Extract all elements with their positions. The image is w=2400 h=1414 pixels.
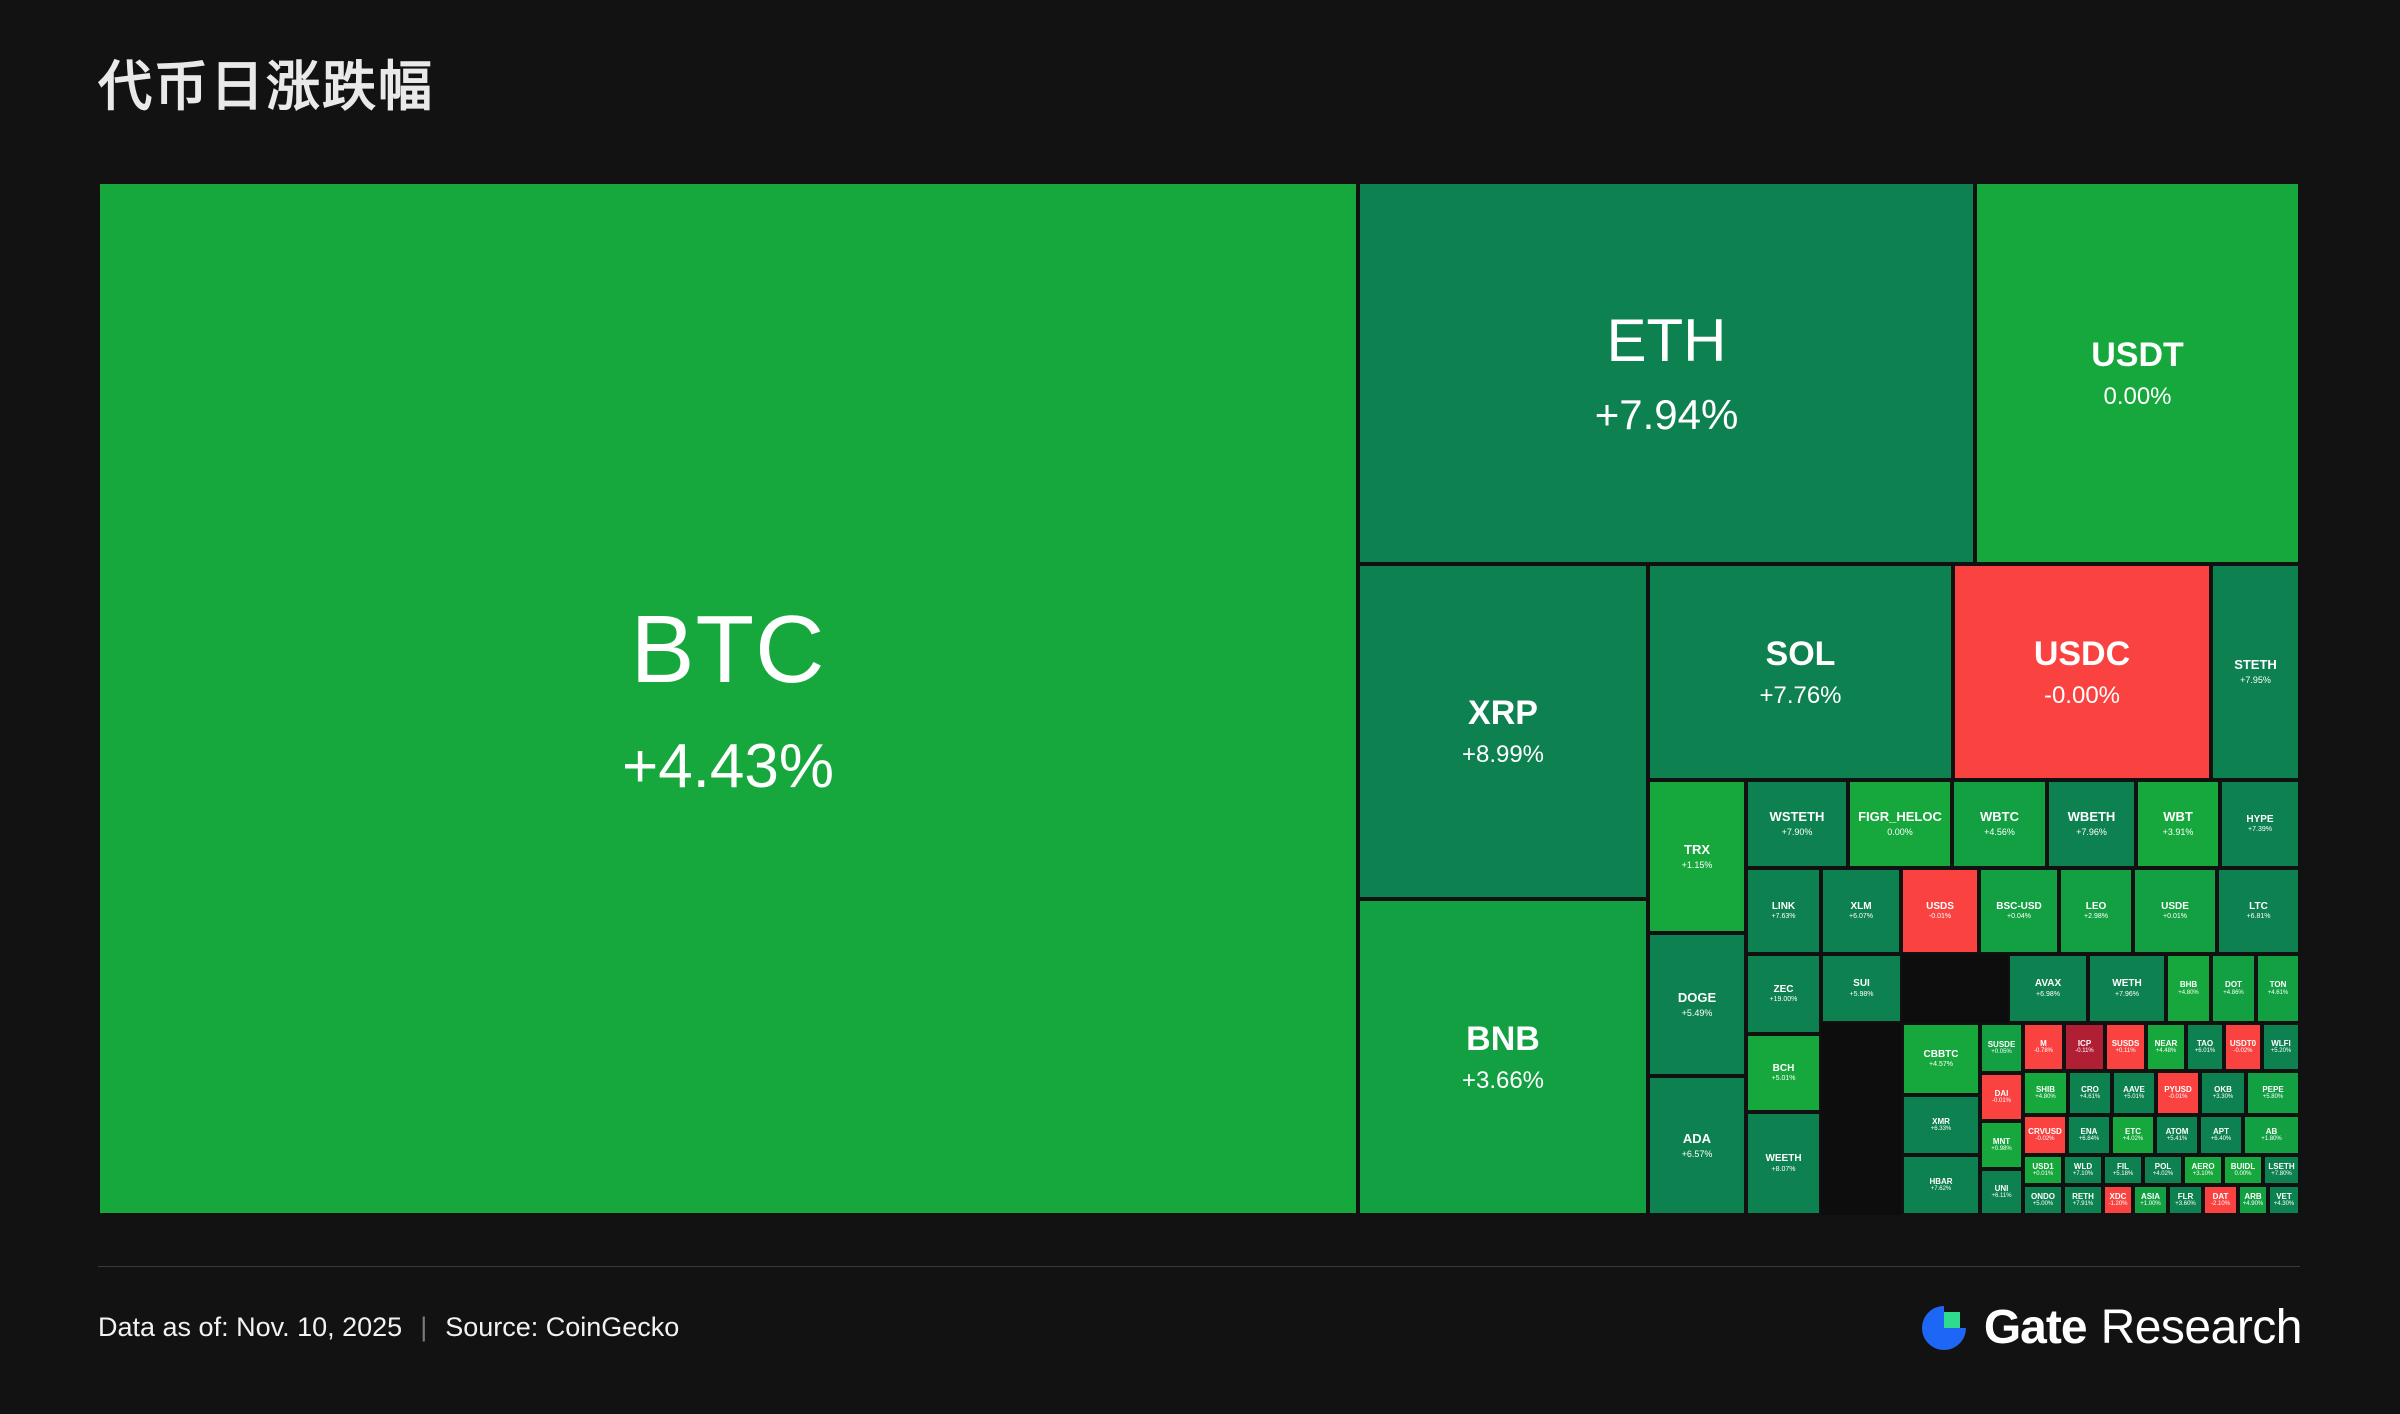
footer-meta: Data as of: Nov. 10, 2025 | Source: Coin… [98, 1312, 679, 1343]
tile-change-pct: 0.00% [2103, 383, 2171, 411]
tile-symbol: AAVE [2123, 1085, 2145, 1094]
tile-change-pct: +3.30% [2213, 1094, 2234, 1101]
tile-symbol: MNT [1993, 1137, 2010, 1146]
treemap-tile[interactable]: SOL+7.76% [1648, 564, 1953, 780]
tile-change-pct: -2.10% [2211, 1201, 2230, 1208]
tile-change-pct: -0.11% [2075, 1048, 2094, 1055]
treemap-tile[interactable]: DAI-0.01% [1980, 1073, 2023, 1121]
tile-symbol: ATOM [2166, 1127, 2189, 1136]
tile-symbol: BSC-USD [1996, 901, 2042, 913]
tile-change-pct: +4.61% [2080, 1094, 2101, 1101]
tile-change-pct: -0.78% [2034, 1048, 2053, 1055]
tile-change-pct: +4.48% [2156, 1048, 2177, 1055]
tile-change-pct: +4.80% [2035, 1094, 2056, 1101]
treemap-tile[interactable]: BHB+4.80% [2166, 954, 2211, 1023]
brand-lockup: Gate Research [1918, 1300, 2302, 1355]
tile-symbol: TRX [1684, 843, 1710, 858]
tile-change-pct: +4.43% [622, 731, 834, 802]
treemap-tile[interactable]: SUSDS+0.11% [2105, 1023, 2146, 1071]
tile-symbol: XDC [2110, 1192, 2127, 1201]
tile-change-pct: +6.81% [2247, 913, 2271, 921]
tile-symbol: LSETH [2268, 1162, 2294, 1171]
tile-symbol: ADA [1683, 1132, 1711, 1147]
tile-change-pct: +5.98% [1850, 991, 1874, 999]
treemap-tile[interactable]: XMR+6.33% [1902, 1095, 1980, 1155]
tile-change-pct: +6.07% [1849, 913, 1873, 921]
tile-change-pct: +5.41% [2167, 1136, 2188, 1143]
treemap-tile[interactable]: TRX+1.15% [1648, 780, 1746, 933]
treemap-tile[interactable]: ICP-0.11% [2064, 1023, 2105, 1071]
tile-symbol: SUI [1853, 978, 1870, 990]
tile-symbol: ZEC [1774, 984, 1794, 996]
tile-symbol: PEPE [2262, 1085, 2283, 1094]
treemap-tile[interactable]: BUIDL0.00% [2223, 1155, 2263, 1185]
treemap-tile[interactable]: ASIA+1.00% [2133, 1185, 2168, 1215]
tile-symbol: XRP [1468, 694, 1538, 733]
tile-change-pct: +0.04% [2007, 913, 2031, 921]
treemap-tile[interactable]: DAT-2.10% [2203, 1185, 2238, 1215]
treemap-tile[interactable]: AB+1.80% [2243, 1115, 2300, 1155]
treemap-tile[interactable]: SUSDE+0.05% [1980, 1023, 2023, 1073]
tile-change-pct: -0.01% [1929, 913, 1951, 921]
treemap-tile[interactable]: ENA+6.84% [2067, 1115, 2111, 1155]
treemap-tile[interactable]: M-0.78% [2023, 1023, 2064, 1071]
tile-symbol: TAO [2197, 1039, 2213, 1048]
tile-symbol: ETH [1607, 306, 1727, 375]
tile-change-pct: +5.49% [1682, 1008, 1713, 1018]
tile-symbol: RETH [2072, 1192, 2094, 1201]
tile-change-pct: +4.80% [2178, 990, 2199, 997]
tile-symbol: USD1 [2032, 1162, 2053, 1171]
treemap-tile[interactable]: ARB+4.90% [2238, 1185, 2268, 1215]
tile-change-pct: 0.00% [1887, 827, 1913, 837]
tile-change-pct: +4.61% [2268, 990, 2289, 997]
treemap-tile[interactable]: USDT0.00% [1975, 182, 2300, 564]
treemap-tile[interactable]: BNB+3.66% [1358, 899, 1648, 1215]
tile-symbol: XMR [1932, 1117, 1950, 1126]
treemap-tile[interactable]: CBBTC+4.57% [1902, 1023, 1980, 1095]
tile-symbol: CRVUSD [2028, 1127, 2062, 1136]
treemap-tile[interactable]: PEPE+5.80% [2246, 1071, 2300, 1115]
tile-symbol: DAI [1995, 1089, 2009, 1098]
treemap-tile[interactable]: ATOM+5.41% [2155, 1115, 2199, 1155]
brand-suffix: Research [2101, 1300, 2302, 1355]
treemap-tile[interactable]: BSC-USD+0.04% [1979, 868, 2059, 954]
tile-symbol: XLM [1850, 901, 1871, 913]
tile-symbol: AVAX [2035, 978, 2061, 990]
tile-symbol: WLFI [2271, 1039, 2291, 1048]
treemap-tile[interactable]: XRP+8.99% [1358, 564, 1648, 899]
treemap-tile[interactable]: RETH+7.91% [2063, 1185, 2103, 1215]
tile-symbol: LTC [2249, 901, 2268, 913]
tile-change-pct: +0.01% [2033, 1171, 2054, 1178]
tile-change-pct: +4.30% [2274, 1201, 2295, 1208]
treemap-tile[interactable]: LSETH+7.80% [2263, 1155, 2300, 1185]
tile-symbol: CRO [2081, 1085, 2099, 1094]
treemap-tile[interactable]: LEO+2.98% [2059, 868, 2133, 954]
treemap-tile[interactable]: AERO+3.10% [2183, 1155, 2223, 1185]
tile-symbol: FLR [2178, 1192, 2194, 1201]
treemap-tile[interactable]: ADA+6.57% [1648, 1076, 1746, 1215]
footer-divider-rule [98, 1266, 2300, 1267]
tile-symbol: HYPE [2246, 814, 2273, 826]
gate-logo-icon [1918, 1302, 1970, 1354]
tile-change-pct: +19.00% [1770, 996, 1798, 1004]
tile-symbol: FIGR_HELOC [1858, 810, 1942, 825]
tile-symbol: AERO [2191, 1162, 2214, 1171]
treemap-tile[interactable]: DOGE+5.49% [1648, 933, 1746, 1076]
tile-change-pct: +6.84% [2079, 1136, 2100, 1143]
treemap-tile[interactable]: WEETH+8.07% [1746, 1112, 1821, 1215]
tile-change-pct: +0.98% [1991, 1146, 2012, 1153]
tile-change-pct: +7.62% [1931, 1186, 1952, 1193]
tile-change-pct: +5.01% [1772, 1075, 1796, 1083]
tile-change-pct: +0.11% [2115, 1048, 2135, 1055]
treemap-tile[interactable]: BCH+5.01% [1746, 1034, 1821, 1112]
tile-change-pct: -0.01% [1992, 1098, 2011, 1105]
tile-change-pct: +7.63% [1772, 913, 1796, 921]
tile-symbol: ASIA [2141, 1192, 2160, 1201]
tile-symbol: USDC [2034, 635, 2130, 674]
tile-symbol: ARB [2244, 1192, 2261, 1201]
treemap-tile[interactable]: HYPE+7.39% [2220, 780, 2300, 868]
page-title: 代币日涨跌幅 [98, 58, 434, 117]
treemap-tile[interactable]: USDS-0.01% [1901, 868, 1979, 954]
data-as-of-label: Data as of: Nov. 10, 2025 [98, 1312, 402, 1343]
treemap-tile[interactable]: WLD+7.10% [2063, 1155, 2103, 1185]
treemap-tile[interactable]: UNI+6.11% [1980, 1169, 2023, 1215]
tile-symbol: UNI [1995, 1184, 2009, 1193]
tile-change-pct: -1.20% [2108, 1201, 2127, 1208]
treemap-tile[interactable]: HBAR+7.62% [1902, 1155, 1980, 1215]
tile-change-pct: +3.66% [1462, 1067, 1544, 1095]
tile-change-pct: +5.01% [2124, 1094, 2145, 1101]
tile-symbol: TON [2270, 980, 2287, 989]
treemap-tile[interactable]: FLR+3.60% [2168, 1185, 2203, 1215]
tile-symbol: DOGE [1678, 991, 1716, 1006]
treemap-tile[interactable]: LTC+6.81% [2217, 868, 2300, 954]
treemap-tile[interactable]: POL+4.02% [2143, 1155, 2183, 1185]
tile-change-pct: +4.57% [1929, 1061, 1953, 1069]
tile-symbol: SUSDS [2112, 1039, 2140, 1048]
tile-symbol: STETH [2234, 658, 2277, 673]
tile-symbol: WETH [2112, 978, 2141, 990]
tile-change-pct: +7.90% [1782, 827, 1813, 837]
tile-change-pct: +0.01% [2163, 913, 2187, 921]
tile-symbol: ICP [2078, 1039, 2091, 1048]
tile-symbol: BNB [1466, 1020, 1540, 1059]
treemap-tile[interactable]: LINK+7.63% [1746, 868, 1821, 954]
tile-change-pct: -0.02% [2233, 1048, 2252, 1055]
source-label: Source: CoinGecko [445, 1312, 679, 1343]
tile-change-pct: +7.91% [2073, 1201, 2094, 1208]
tile-change-pct: +6.40% [2211, 1136, 2232, 1143]
treemap-tile[interactable]: WSTETH+7.90% [1746, 780, 1848, 868]
tile-change-pct: +7.96% [2115, 991, 2139, 999]
tile-symbol: HBAR [1929, 1177, 1952, 1186]
tile-change-pct: +2.98% [2084, 913, 2108, 921]
tile-symbol: LEO [2086, 901, 2107, 913]
tile-change-pct: +3.60% [2175, 1201, 2196, 1208]
tile-symbol: SUSDE [1988, 1040, 2016, 1049]
tile-symbol: USDT [2091, 336, 2184, 375]
tile-symbol: USDE [2161, 901, 2189, 913]
treemap-tile[interactable]: AVAX+6.98% [2008, 954, 2088, 1023]
treemap-tile[interactable]: WLFI+5.20% [2262, 1023, 2300, 1071]
tile-symbol: BHB [2180, 980, 2197, 989]
tile-symbol: BTC [631, 595, 826, 705]
tile-symbol: BCH [1773, 1063, 1795, 1075]
tile-symbol: NEAR [2155, 1039, 2178, 1048]
tile-change-pct: +6.33% [1931, 1126, 1952, 1133]
treemap-tile[interactable]: TAO+6.01% [2186, 1023, 2224, 1071]
treemap-tile[interactable]: FIL+5.18% [2103, 1155, 2143, 1185]
treemap-tile[interactable]: WETH+7.96% [2088, 954, 2166, 1023]
treemap-tile[interactable]: CRO+4.61% [2068, 1071, 2112, 1115]
treemap-tile[interactable]: ETH+7.94% [1358, 182, 1975, 564]
tile-change-pct: +5.18% [2113, 1171, 2134, 1178]
treemap-tile[interactable]: XDC-1.20% [2103, 1185, 2133, 1215]
tile-change-pct: -0.00% [2044, 682, 2120, 710]
tile-symbol: AB [2266, 1127, 2278, 1136]
tile-change-pct: -0.02% [2035, 1136, 2054, 1143]
tile-symbol: DAT [2213, 1192, 2229, 1201]
treemap-tile[interactable]: USDE+0.01% [2133, 868, 2217, 954]
tile-symbol: WBT [2163, 810, 2193, 825]
treemap-tile[interactable]: SHIB+4.80% [2023, 1071, 2068, 1115]
treemap-tile[interactable]: ONDO+5.00% [2023, 1185, 2063, 1215]
tile-change-pct: +7.10% [2073, 1171, 2094, 1178]
footer-divider: | [420, 1312, 427, 1343]
treemap-tile[interactable]: USD1+0.01% [2023, 1155, 2063, 1185]
tile-change-pct: +4.02% [2123, 1136, 2144, 1143]
tile-symbol: WBTC [1980, 810, 2019, 825]
tile-change-pct: +4.86% [2223, 990, 2244, 997]
tile-change-pct: +8.07% [1772, 1166, 1796, 1174]
tile-change-pct: 0.00% [2234, 1171, 2251, 1178]
tile-change-pct: +1.15% [1682, 860, 1713, 870]
treemap-tile[interactable]: XLM+6.07% [1821, 868, 1901, 954]
treemap-tile[interactable]: OKB+3.30% [2200, 1071, 2246, 1115]
tile-change-pct: +6.01% [2195, 1048, 2216, 1055]
tile-symbol: USDS [1926, 901, 1954, 913]
tile-symbol: PYUSD [2164, 1085, 2192, 1094]
treemap-tile[interactable]: USDC-0.00% [1953, 564, 2211, 780]
tile-symbol: WLD [2074, 1162, 2092, 1171]
tile-change-pct: +6.11% [1991, 1193, 2011, 1200]
tile-symbol: ENA [2081, 1127, 2098, 1136]
treemap-tile[interactable]: WBETH+7.96% [2047, 780, 2136, 868]
treemap-tile[interactable]: BTC+4.43% [98, 182, 1358, 1215]
tile-symbol: SOL [1766, 635, 1836, 674]
treemap-tile[interactable]: DOT+4.86% [2211, 954, 2256, 1023]
treemap-tile[interactable]: USDT0-0.02% [2224, 1023, 2262, 1071]
treemap-tile[interactable]: SUI+5.98% [1821, 954, 1902, 1023]
tile-symbol: BUIDL [2231, 1162, 2255, 1171]
tile-change-pct: +4.90% [2243, 1201, 2264, 1208]
tile-symbol: DOT [2225, 980, 2242, 989]
crypto-daily-change-treemap: BTC+4.43%ETH+7.94%USDT0.00%XRP+8.99%BNB+… [98, 182, 2300, 1215]
tile-symbol: CBBTC [1924, 1049, 1959, 1061]
tile-change-pct: +5.20% [2271, 1048, 2292, 1055]
tile-symbol: ONDO [2031, 1192, 2055, 1201]
treemap-tile[interactable]: CRVUSD-0.02% [2023, 1115, 2067, 1155]
tile-change-pct: +6.57% [1682, 1149, 1713, 1159]
tile-change-pct: +7.94% [1595, 391, 1739, 439]
tile-change-pct: +7.76% [1759, 682, 1841, 710]
tile-change-pct: +7.80% [2271, 1171, 2292, 1178]
tile-symbol: WEETH [1765, 1153, 1801, 1165]
brand-name: Gate [1984, 1300, 2087, 1355]
tile-symbol: ETC [2125, 1127, 2141, 1136]
treemap-tile[interactable]: TON+4.61% [2256, 954, 2300, 1023]
treemap-tile[interactable]: STETH+7.95% [2211, 564, 2300, 780]
tile-change-pct: +5.80% [2263, 1094, 2284, 1101]
treemap-tile[interactable]: WBT+3.91% [2136, 780, 2220, 868]
tile-change-pct: +3.10% [2193, 1171, 2214, 1178]
tile-symbol: VET [2276, 1192, 2292, 1201]
tile-symbol: FIL [2117, 1162, 2129, 1171]
treemap-tile[interactable]: ETC+4.02% [2111, 1115, 2155, 1155]
tile-change-pct: +6.98% [2036, 991, 2060, 999]
tile-symbol: SHIB [2036, 1085, 2055, 1094]
tile-change-pct: +7.95% [2240, 675, 2271, 685]
infographic-canvas: 代币日涨跌幅 BTC+4.43%ETH+7.94%USDT0.00%XRP+8.… [0, 0, 2400, 1414]
tile-change-pct: +5.00% [2033, 1201, 2054, 1208]
treemap-tile[interactable]: NEAR+4.48% [2146, 1023, 2186, 1071]
treemap-tile[interactable]: APT+6.40% [2199, 1115, 2243, 1155]
treemap-tile[interactable]: PYUSD-0.01% [2156, 1071, 2200, 1115]
tile-change-pct: +1.80% [2261, 1136, 2282, 1143]
treemap-tile[interactable]: FIGR_HELOC0.00% [1848, 780, 1952, 868]
tile-change-pct: +4.02% [2153, 1171, 2174, 1178]
treemap-tile[interactable]: WBTC+4.56% [1952, 780, 2047, 868]
tile-symbol: WSTETH [1770, 810, 1825, 825]
treemap-tile[interactable]: AAVE+5.01% [2112, 1071, 2156, 1115]
tile-symbol: OKB [2214, 1085, 2232, 1094]
tile-change-pct: +4.56% [1984, 827, 2015, 837]
tile-symbol: WBETH [2068, 810, 2116, 825]
tile-change-pct: -0.01% [2168, 1094, 2187, 1101]
tile-change-pct: +7.39% [2248, 826, 2272, 834]
treemap-tile[interactable]: VET+4.30% [2268, 1185, 2300, 1215]
treemap-tile[interactable]: ZEC+19.00% [1746, 954, 1821, 1034]
tile-symbol: LINK [1772, 901, 1795, 913]
tile-change-pct: +3.91% [2163, 827, 2194, 837]
tile-symbol: APT [2213, 1127, 2229, 1136]
tile-symbol: USDT0 [2230, 1039, 2256, 1048]
tile-symbol: POL [2155, 1162, 2171, 1171]
tile-change-pct: +8.99% [1462, 741, 1544, 769]
treemap-tile[interactable]: MNT+0.98% [1980, 1121, 2023, 1169]
tile-change-pct: +0.05% [1991, 1049, 2012, 1056]
tile-change-pct: +7.96% [2076, 827, 2107, 837]
tile-symbol: M [2040, 1039, 2047, 1048]
tile-change-pct: +1.00% [2140, 1201, 2161, 1208]
